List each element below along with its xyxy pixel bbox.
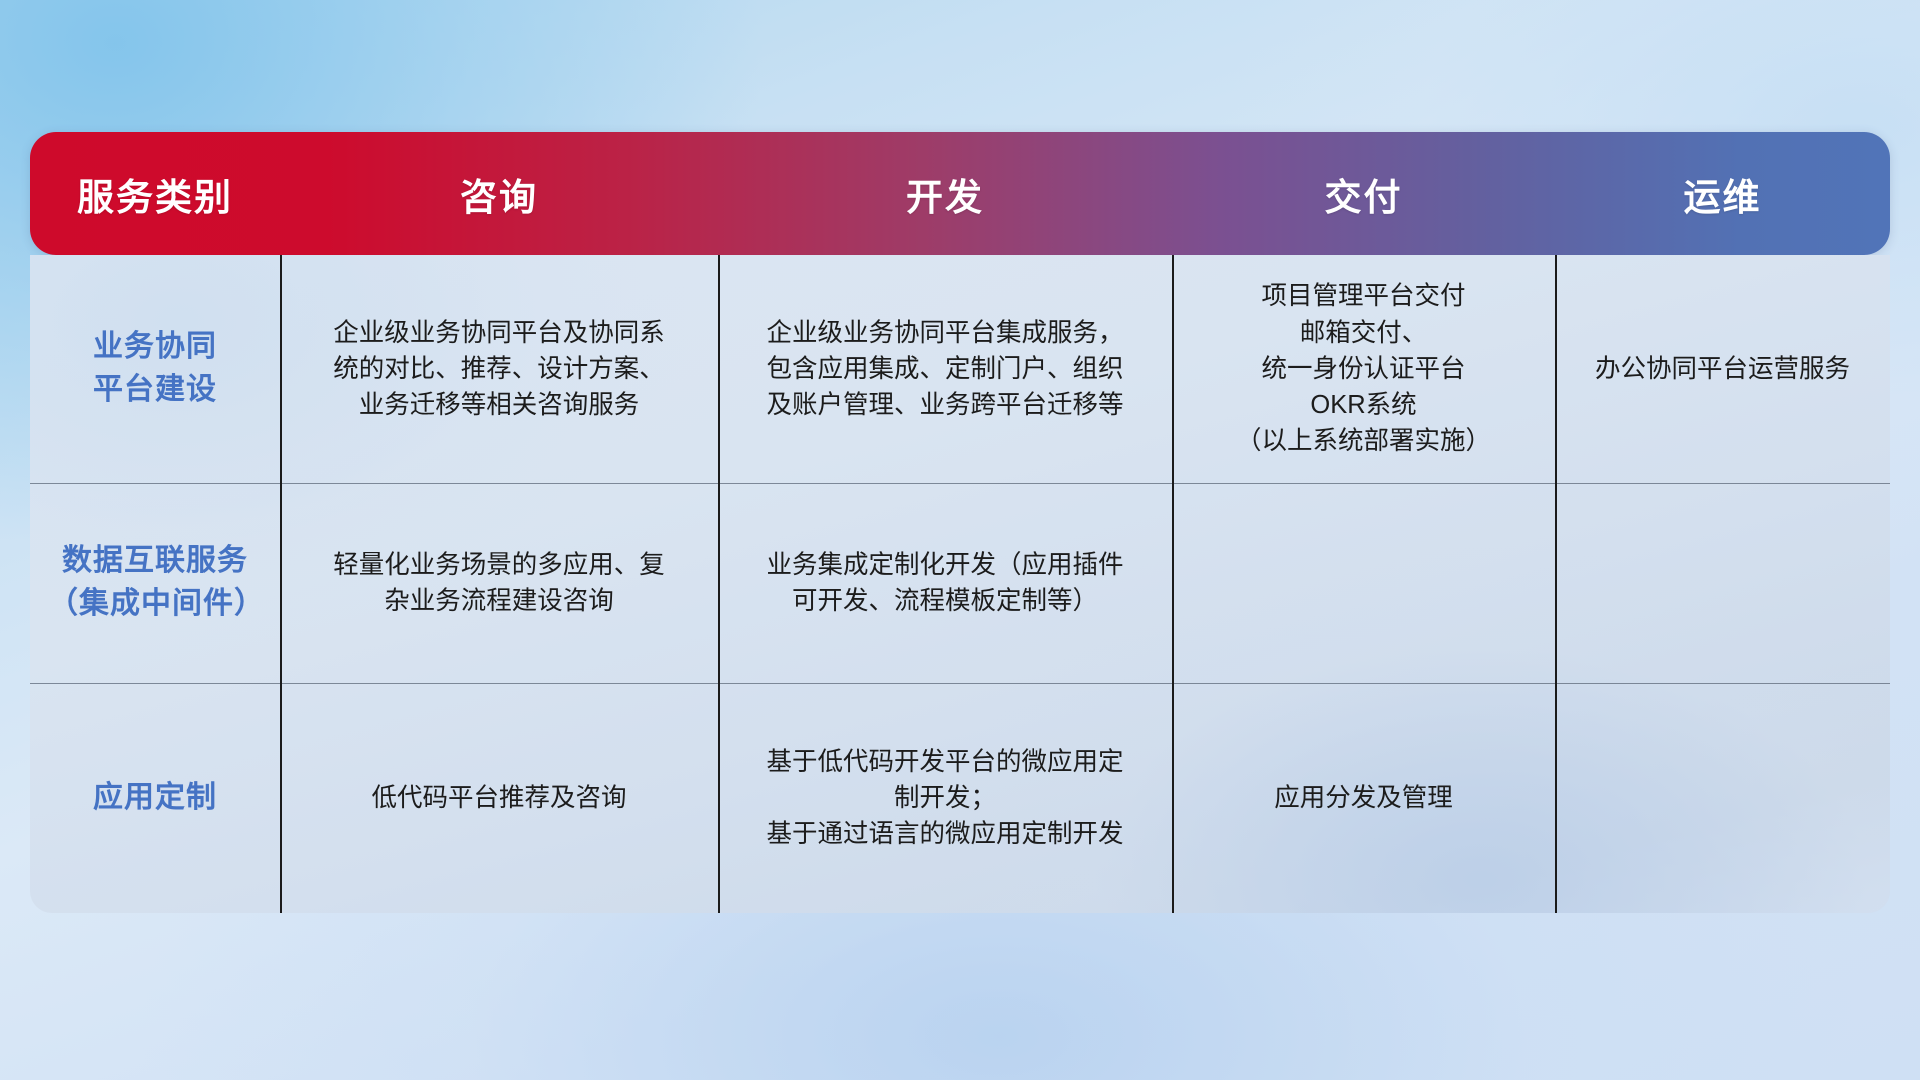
table-header-row: 服务类别 咨询 开发 交付 运维 xyxy=(30,132,1890,255)
cell-operations xyxy=(1555,483,1890,683)
column-header-service-category: 服务类别 xyxy=(30,132,280,255)
cell-delivery xyxy=(1172,483,1555,683)
cell-consulting: 低代码平台推荐及咨询 xyxy=(280,683,718,913)
cell-delivery: 应用分发及管理 xyxy=(1172,683,1555,913)
category-label: 应用定制 xyxy=(93,777,217,820)
service-matrix-table: 服务类别 咨询 开发 交付 运维 业务协同 平台建设 企业级业务协同平台及协同系… xyxy=(30,132,1890,913)
cell-category: 数据互联服务 （集成中间件） xyxy=(30,483,280,683)
cell-delivery: 项目管理平台交付 邮箱交付、 统一身份认证平台 OKR系统 （以上系统部署实施） xyxy=(1172,255,1555,483)
cell-consulting: 轻量化业务场景的多应用、复 杂业务流程建设咨询 xyxy=(280,483,718,683)
cell-development: 业务集成定制化开发（应用插件 可开发、流程模板定制等） xyxy=(718,483,1172,683)
cell-text: 应用分发及管理 xyxy=(1274,780,1453,816)
column-header-development: 开发 xyxy=(718,132,1172,255)
cell-text: 项目管理平台交付 邮箱交付、 统一身份认证平台 OKR系统 （以上系统部署实施） xyxy=(1236,278,1491,459)
cell-development: 企业级业务协同平台集成服务， 包含应用集成、定制门户、组织 及账户管理、业务跨平… xyxy=(718,255,1172,483)
cell-text: 基于低代码开发平台的微应用定 制开发； 基于通过语言的微应用定制开发 xyxy=(766,744,1123,853)
cell-consulting: 企业级业务协同平台及协同系 统的对比、推荐、设计方案、 业务迁移等相关咨询服务 xyxy=(280,255,718,483)
table-row: 业务协同 平台建设 企业级业务协同平台及协同系 统的对比、推荐、设计方案、 业务… xyxy=(30,255,1890,483)
cell-text: 轻量化业务场景的多应用、复 杂业务流程建设咨询 xyxy=(333,547,665,619)
cell-text: 低代码平台推荐及咨询 xyxy=(371,780,626,816)
cell-text: 业务集成定制化开发（应用插件 可开发、流程模板定制等） xyxy=(766,547,1123,619)
table-row: 应用定制 低代码平台推荐及咨询 基于低代码开发平台的微应用定 制开发； 基于通过… xyxy=(30,683,1890,913)
slide-canvas: 服务类别 咨询 开发 交付 运维 业务协同 平台建设 企业级业务协同平台及协同系… xyxy=(0,0,1920,1080)
cell-development: 基于低代码开发平台的微应用定 制开发； 基于通过语言的微应用定制开发 xyxy=(718,683,1172,913)
category-label: 数据互联服务 （集成中间件） xyxy=(48,540,262,625)
cell-text: 办公协同平台运营服务 xyxy=(1595,351,1850,387)
cell-operations xyxy=(1555,683,1890,913)
column-header-consulting: 咨询 xyxy=(280,132,718,255)
cell-category: 应用定制 xyxy=(30,683,280,913)
cell-text: 企业级业务协同平台集成服务， 包含应用集成、定制门户、组织 及账户管理、业务跨平… xyxy=(766,315,1123,424)
cell-category: 业务协同 平台建设 xyxy=(30,255,280,483)
column-header-delivery: 交付 xyxy=(1172,132,1555,255)
table-body: 业务协同 平台建设 企业级业务协同平台及协同系 统的对比、推荐、设计方案、 业务… xyxy=(30,255,1890,913)
cell-operations: 办公协同平台运营服务 xyxy=(1555,255,1890,483)
column-header-operations: 运维 xyxy=(1555,132,1890,255)
cell-text: 企业级业务协同平台及协同系 统的对比、推荐、设计方案、 业务迁移等相关咨询服务 xyxy=(333,315,665,424)
table-row: 数据互联服务 （集成中间件） 轻量化业务场景的多应用、复 杂业务流程建设咨询 业… xyxy=(30,483,1890,683)
category-label: 业务协同 平台建设 xyxy=(93,326,217,411)
